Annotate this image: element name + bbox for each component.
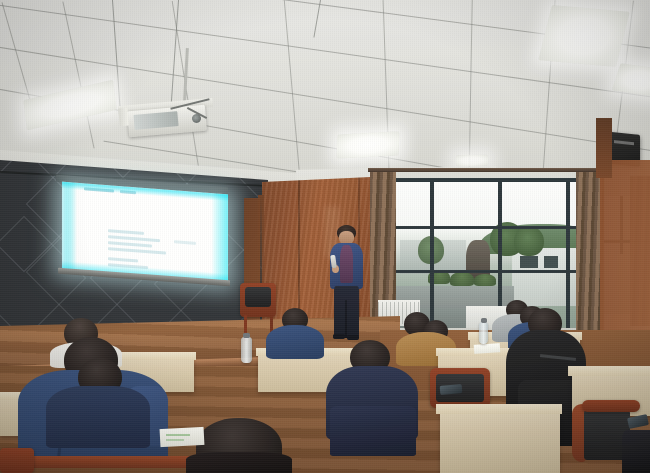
light-panel-right-upper <box>538 5 629 67</box>
right-wall-wood-upper <box>596 118 612 178</box>
attendee-corner <box>622 430 650 473</box>
light-panel-left <box>23 80 116 131</box>
attendee-dark-hair-front <box>186 452 292 473</box>
projector-side-vent <box>118 108 129 127</box>
handout-paper[interactable] <box>474 343 501 354</box>
stage-chair-back <box>245 287 271 307</box>
water-bottle-2 <box>481 318 487 323</box>
attendee-navy-left <box>46 386 150 448</box>
audience-desk <box>440 410 560 473</box>
mobile-phone[interactable] <box>440 384 463 395</box>
outdoor-hedge <box>450 272 474 286</box>
curtain-rail <box>368 168 608 172</box>
audience-desk <box>568 366 650 376</box>
attendee-suit-right <box>330 406 416 456</box>
meeting-room-photo: A presenter stands on a low wooden stage… <box>0 0 650 473</box>
right-wall-wood <box>600 160 650 335</box>
projector-lens <box>192 114 201 123</box>
water-bottle <box>243 333 250 338</box>
ceiling-wire <box>313 0 321 38</box>
presenter-shoe <box>333 334 345 339</box>
water-bottle[interactable] <box>241 337 252 363</box>
projection-screen <box>62 182 228 283</box>
outdoor-trees <box>514 226 544 256</box>
audience-desk <box>436 404 562 414</box>
handout-paper[interactable] <box>160 427 205 447</box>
light-panel-center <box>337 131 400 158</box>
light-panel-rear <box>456 155 488 167</box>
audience-chair[interactable] <box>582 400 640 412</box>
audience-chair[interactable] <box>0 448 34 473</box>
presenter-shoe <box>347 335 359 340</box>
presenter-sweater <box>340 245 353 283</box>
outdoor-hedge <box>474 274 496 286</box>
attendee-navy-right <box>266 325 324 359</box>
water-bottle-2[interactable] <box>479 322 488 344</box>
